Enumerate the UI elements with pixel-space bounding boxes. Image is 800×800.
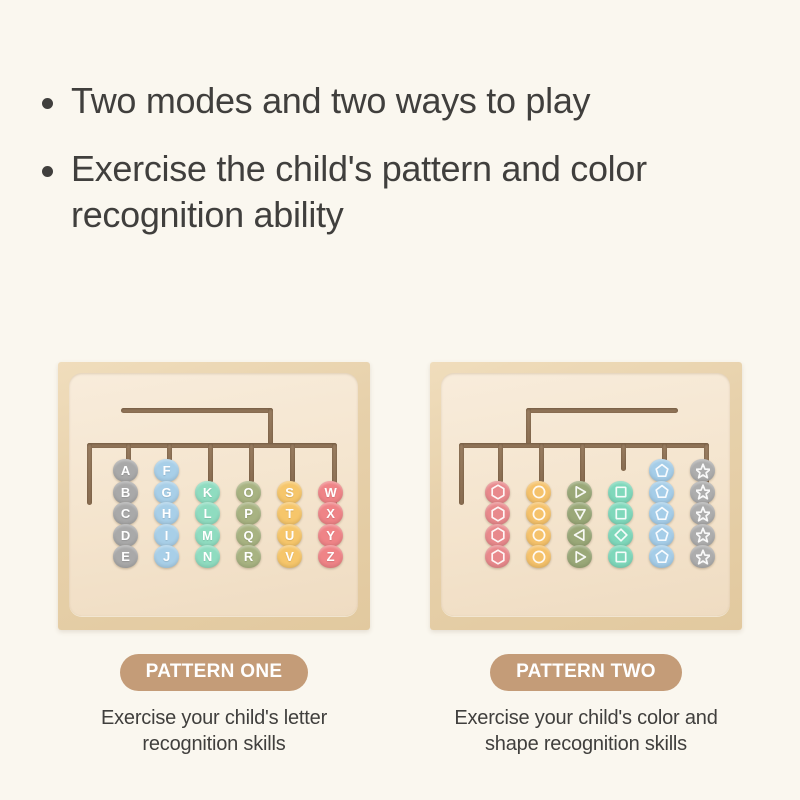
pattern-badge: PATTERN ONE: [120, 654, 309, 691]
square-icon: [614, 549, 628, 565]
pentagon-icon: [655, 527, 669, 543]
letter-bead[interactable]: K: [195, 481, 220, 504]
letter-bead[interactable]: B: [113, 481, 138, 504]
bead-letter-label: N: [203, 550, 212, 563]
bead-letter-label: J: [163, 550, 170, 563]
circle-icon: [532, 549, 546, 565]
letter-bead[interactable]: N: [195, 545, 220, 568]
shape-bead[interactable]: [526, 481, 551, 504]
bead-letter-label: H: [162, 507, 171, 520]
letter-bead[interactable]: Q: [236, 524, 261, 547]
shape-bead[interactable]: [608, 545, 633, 568]
board-panel: [441, 373, 730, 616]
bullet-item: Exercise the child's pattern and color r…: [42, 146, 772, 238]
feature-bullet-list: Two modes and two ways to play Exercise …: [42, 78, 772, 260]
bead-letter-label: Y: [326, 529, 334, 542]
column-star[interactable]: [690, 459, 715, 567]
wooden-frame: [430, 362, 742, 630]
hexagon-icon: [491, 549, 505, 565]
column-w-z[interactable]: WXYZ: [318, 481, 343, 567]
bead-letter-label: G: [162, 486, 172, 499]
shape-bead[interactable]: [608, 481, 633, 504]
bead-letter-label: Z: [327, 550, 335, 563]
bead-columns: [441, 373, 730, 616]
letter-bead[interactable]: F: [154, 459, 179, 482]
board-panel: ABCDEFGHIJKLMNOPQRSTUVWXYZ: [69, 373, 358, 616]
bead-letter-label: Q: [244, 529, 254, 542]
shape-bead[interactable]: [690, 481, 715, 504]
bead-letter-label: E: [121, 550, 129, 563]
bead-letter-label: F: [163, 464, 171, 477]
shape-bead[interactable]: [526, 502, 551, 525]
letter-bead[interactable]: M: [195, 524, 220, 547]
shape-bead[interactable]: [485, 502, 510, 525]
bullet-dot-icon: [42, 166, 53, 177]
shape-bead[interactable]: [690, 459, 715, 482]
column-pentagon[interactable]: [649, 459, 674, 567]
bead-letter-label: O: [244, 486, 254, 499]
bead-letter-label: A: [121, 464, 130, 477]
boards-row: ABCDEFGHIJKLMNOPQRSTUVWXYZ PATTERN ONE E…: [0, 362, 800, 758]
circle-icon: [532, 484, 546, 500]
shape-bead[interactable]: [649, 481, 674, 504]
bead-letter-label: W: [324, 486, 336, 499]
letter-bead[interactable]: R: [236, 545, 261, 568]
shape-bead[interactable]: [485, 545, 510, 568]
column-square[interactable]: [608, 481, 633, 567]
shape-bead[interactable]: [526, 524, 551, 547]
board-pattern-one: ABCDEFGHIJKLMNOPQRSTUVWXYZ PATTERN ONE E…: [58, 362, 370, 758]
shape-bead[interactable]: [567, 524, 592, 547]
bullet-text: Exercise the child's pattern and color r…: [71, 146, 772, 238]
letter-bead[interactable]: Y: [318, 524, 343, 547]
letter-bead[interactable]: T: [277, 502, 302, 525]
shape-bead[interactable]: [649, 545, 674, 568]
square-icon: [614, 506, 628, 522]
bullet-item: Two modes and two ways to play: [42, 78, 772, 124]
letter-bead[interactable]: G: [154, 481, 179, 504]
shape-bead[interactable]: [567, 545, 592, 568]
board-pattern-two: PATTERN TWO Exercise your child's color …: [430, 362, 742, 758]
bead-letter-label: S: [285, 486, 293, 499]
letter-bead[interactable]: V: [277, 545, 302, 568]
column-a-e[interactable]: ABCDE: [113, 459, 138, 567]
shape-bead[interactable]: [690, 502, 715, 525]
letter-bead[interactable]: X: [318, 502, 343, 525]
letter-bead[interactable]: S: [277, 481, 302, 504]
letter-bead[interactable]: W: [318, 481, 343, 504]
letter-bead[interactable]: P: [236, 502, 261, 525]
pattern-description: Exercise your child's color and shape re…: [430, 705, 742, 758]
square-icon: [614, 484, 628, 500]
shape-bead[interactable]: [608, 524, 633, 547]
bullet-dot-icon: [42, 98, 53, 109]
column-s-v[interactable]: STUV: [277, 481, 302, 567]
letter-bead[interactable]: H: [154, 502, 179, 525]
hexagon-icon: [491, 506, 505, 522]
letter-bead[interactable]: Z: [318, 545, 343, 568]
triangle-right-icon: [573, 484, 587, 500]
bead-letter-label: D: [121, 529, 130, 542]
letter-bead[interactable]: E: [113, 545, 138, 568]
shape-bead[interactable]: [690, 524, 715, 547]
bead-letter-label: K: [203, 486, 212, 499]
column-triangle[interactable]: [567, 481, 592, 567]
star-icon: [696, 527, 710, 543]
shape-bead[interactable]: [485, 524, 510, 547]
letter-bead[interactable]: D: [113, 524, 138, 547]
letter-bead[interactable]: O: [236, 481, 261, 504]
board-caption-two: PATTERN TWO Exercise your child's color …: [430, 654, 742, 758]
bead-columns: ABCDEFGHIJKLMNOPQRSTUVWXYZ: [69, 373, 358, 616]
shape-bead[interactable]: [608, 502, 633, 525]
bullet-text: Two modes and two ways to play: [71, 78, 590, 124]
column-circle[interactable]: [526, 481, 551, 567]
column-k-n[interactable]: KLMN: [195, 481, 220, 567]
bead-letter-label: R: [244, 550, 253, 563]
column-hexagon[interactable]: [485, 481, 510, 567]
star-icon: [696, 484, 710, 500]
pentagon-icon: [655, 549, 669, 565]
letter-bead[interactable]: A: [113, 459, 138, 482]
shape-bead[interactable]: [526, 545, 551, 568]
shape-bead[interactable]: [690, 545, 715, 568]
bead-letter-label: M: [202, 529, 213, 542]
star-icon: [696, 549, 710, 565]
letter-bead[interactable]: C: [113, 502, 138, 525]
letter-bead[interactable]: L: [195, 502, 220, 525]
pattern-description: Exercise your child's letter recognition…: [58, 705, 370, 758]
bead-letter-label: C: [121, 507, 130, 520]
pattern-badge: PATTERN TWO: [490, 654, 682, 691]
star-icon: [696, 463, 710, 479]
shape-bead[interactable]: [649, 459, 674, 482]
bead-letter-label: T: [286, 507, 294, 520]
column-o-r[interactable]: OPQR: [236, 481, 261, 567]
bead-letter-label: V: [285, 550, 293, 563]
star-icon: [696, 506, 710, 522]
pentagon-icon: [655, 463, 669, 479]
board-caption-one: PATTERN ONE Exercise your child's letter…: [58, 654, 370, 758]
pentagon-icon: [655, 484, 669, 500]
hexagon-icon: [491, 484, 505, 500]
shape-bead[interactable]: [649, 502, 674, 525]
column-f-j[interactable]: FGHIJ: [154, 459, 179, 567]
triangle-right-icon: [573, 549, 587, 565]
hexagon-icon: [491, 527, 505, 543]
bead-letter-label: U: [285, 529, 294, 542]
bead-letter-label: X: [326, 507, 334, 520]
shape-bead[interactable]: [485, 481, 510, 504]
letter-bead[interactable]: U: [277, 524, 302, 547]
shape-bead[interactable]: [567, 481, 592, 504]
triangle-left-icon: [573, 527, 587, 543]
bead-letter-label: L: [204, 507, 212, 520]
circle-icon: [532, 506, 546, 522]
letter-bead[interactable]: J: [154, 545, 179, 568]
triangle-down-icon: [573, 506, 587, 522]
letter-bead[interactable]: I: [154, 524, 179, 547]
bead-letter-label: P: [244, 507, 252, 520]
bead-letter-label: B: [121, 486, 130, 499]
shape-bead[interactable]: [567, 502, 592, 525]
pentagon-icon: [655, 506, 669, 522]
bead-letter-label: I: [165, 529, 168, 542]
diamond-icon: [614, 527, 628, 543]
shape-bead[interactable]: [649, 524, 674, 547]
circle-icon: [532, 527, 546, 543]
wooden-frame: ABCDEFGHIJKLMNOPQRSTUVWXYZ: [58, 362, 370, 630]
